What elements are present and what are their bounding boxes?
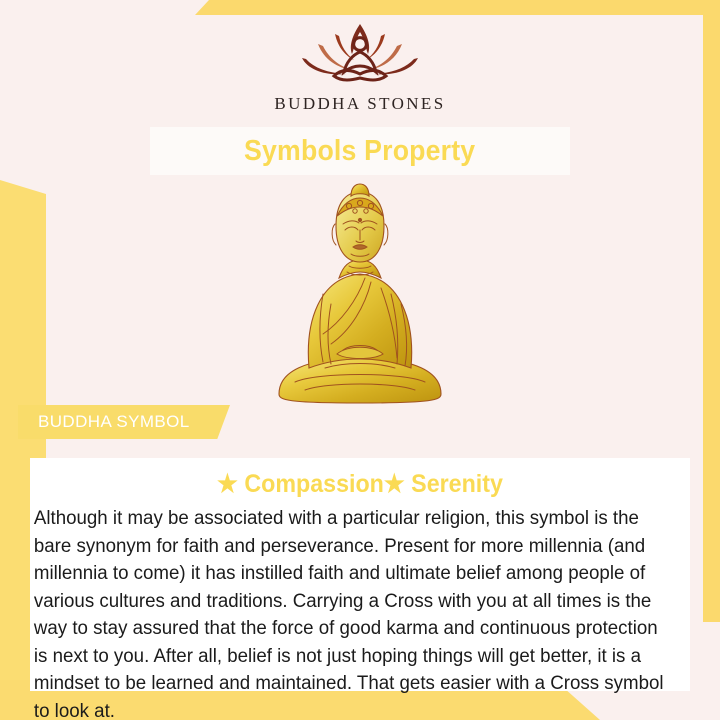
buddha-symbol-ribbon: BUDDHA SYMBOL xyxy=(18,405,230,439)
frame-top-accent xyxy=(195,0,720,15)
page-title: Symbols Property xyxy=(244,135,475,168)
content-panel: ★ Compassion★ Serenity Although it may b… xyxy=(30,458,690,691)
brand-name: BUDDHA STONES xyxy=(274,94,445,114)
content-body-text: Although it may be associated with a par… xyxy=(30,505,670,720)
seated-golden-buddha-icon xyxy=(265,182,455,410)
title-band: Symbols Property xyxy=(150,127,570,175)
ribbon-label: BUDDHA SYMBOL xyxy=(38,412,190,432)
infographic-page: BUDDHA STONES Symbols Property xyxy=(0,0,720,720)
content-subheading: ★ Compassion★ Serenity xyxy=(53,458,667,499)
brand-header: BUDDHA STONES xyxy=(0,18,720,114)
lotus-yoga-figure-icon xyxy=(294,18,426,90)
